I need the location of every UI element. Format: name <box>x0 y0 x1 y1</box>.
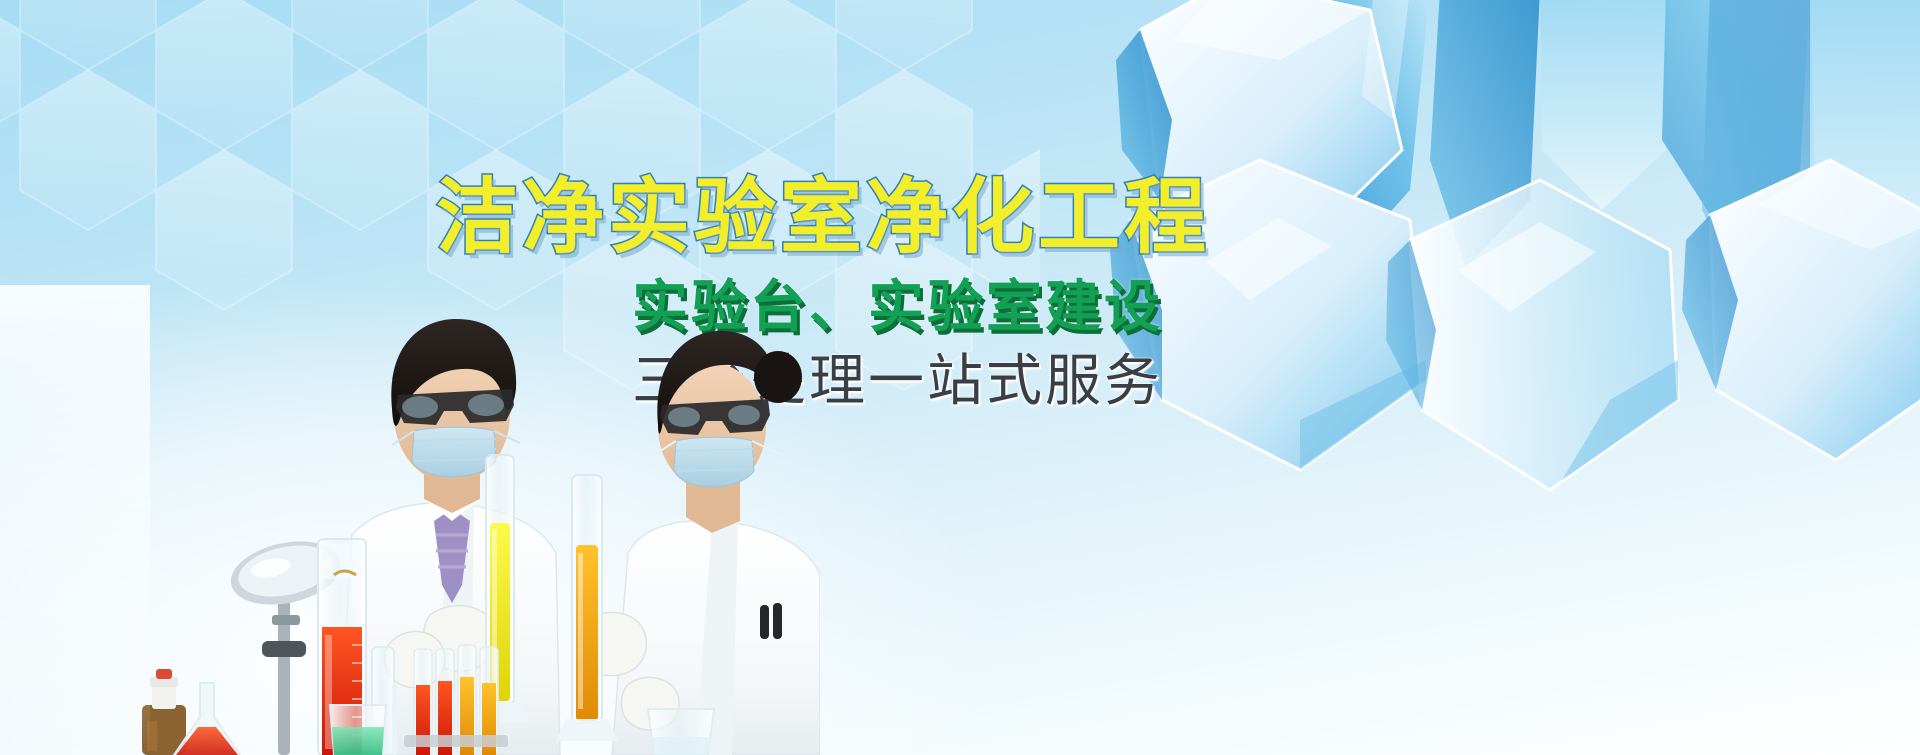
glass-stirring-rod <box>392 683 397 755</box>
beaker-green <box>330 705 386 755</box>
subtitle-waste-service: 三废处理一站式服务 <box>632 352 1596 411</box>
erlenmeyer-flask-red <box>174 683 240 755</box>
headline-block: 洁净实验室净化工程 实验台、实验室建设 三废处理一站式服务 <box>436 176 1596 411</box>
hero-banner: 洁净实验室净化工程 实验台、实验室建设 三废处理一站式服务 <box>0 0 1920 755</box>
graduated-cylinder-red <box>318 539 366 755</box>
page-title: 洁净实验室净化工程 <box>436 176 1596 260</box>
test-tube-yellow <box>470 455 530 723</box>
test-tube-orange <box>556 475 618 741</box>
beaker-clear <box>648 709 714 755</box>
subtitle-services: 实验台、实验室建设 <box>632 278 1596 337</box>
test-tube-rack <box>404 645 508 755</box>
magnifier-stand <box>225 532 347 755</box>
reagent-bottle-amber <box>142 669 186 755</box>
test-tube-clear <box>372 647 394 755</box>
